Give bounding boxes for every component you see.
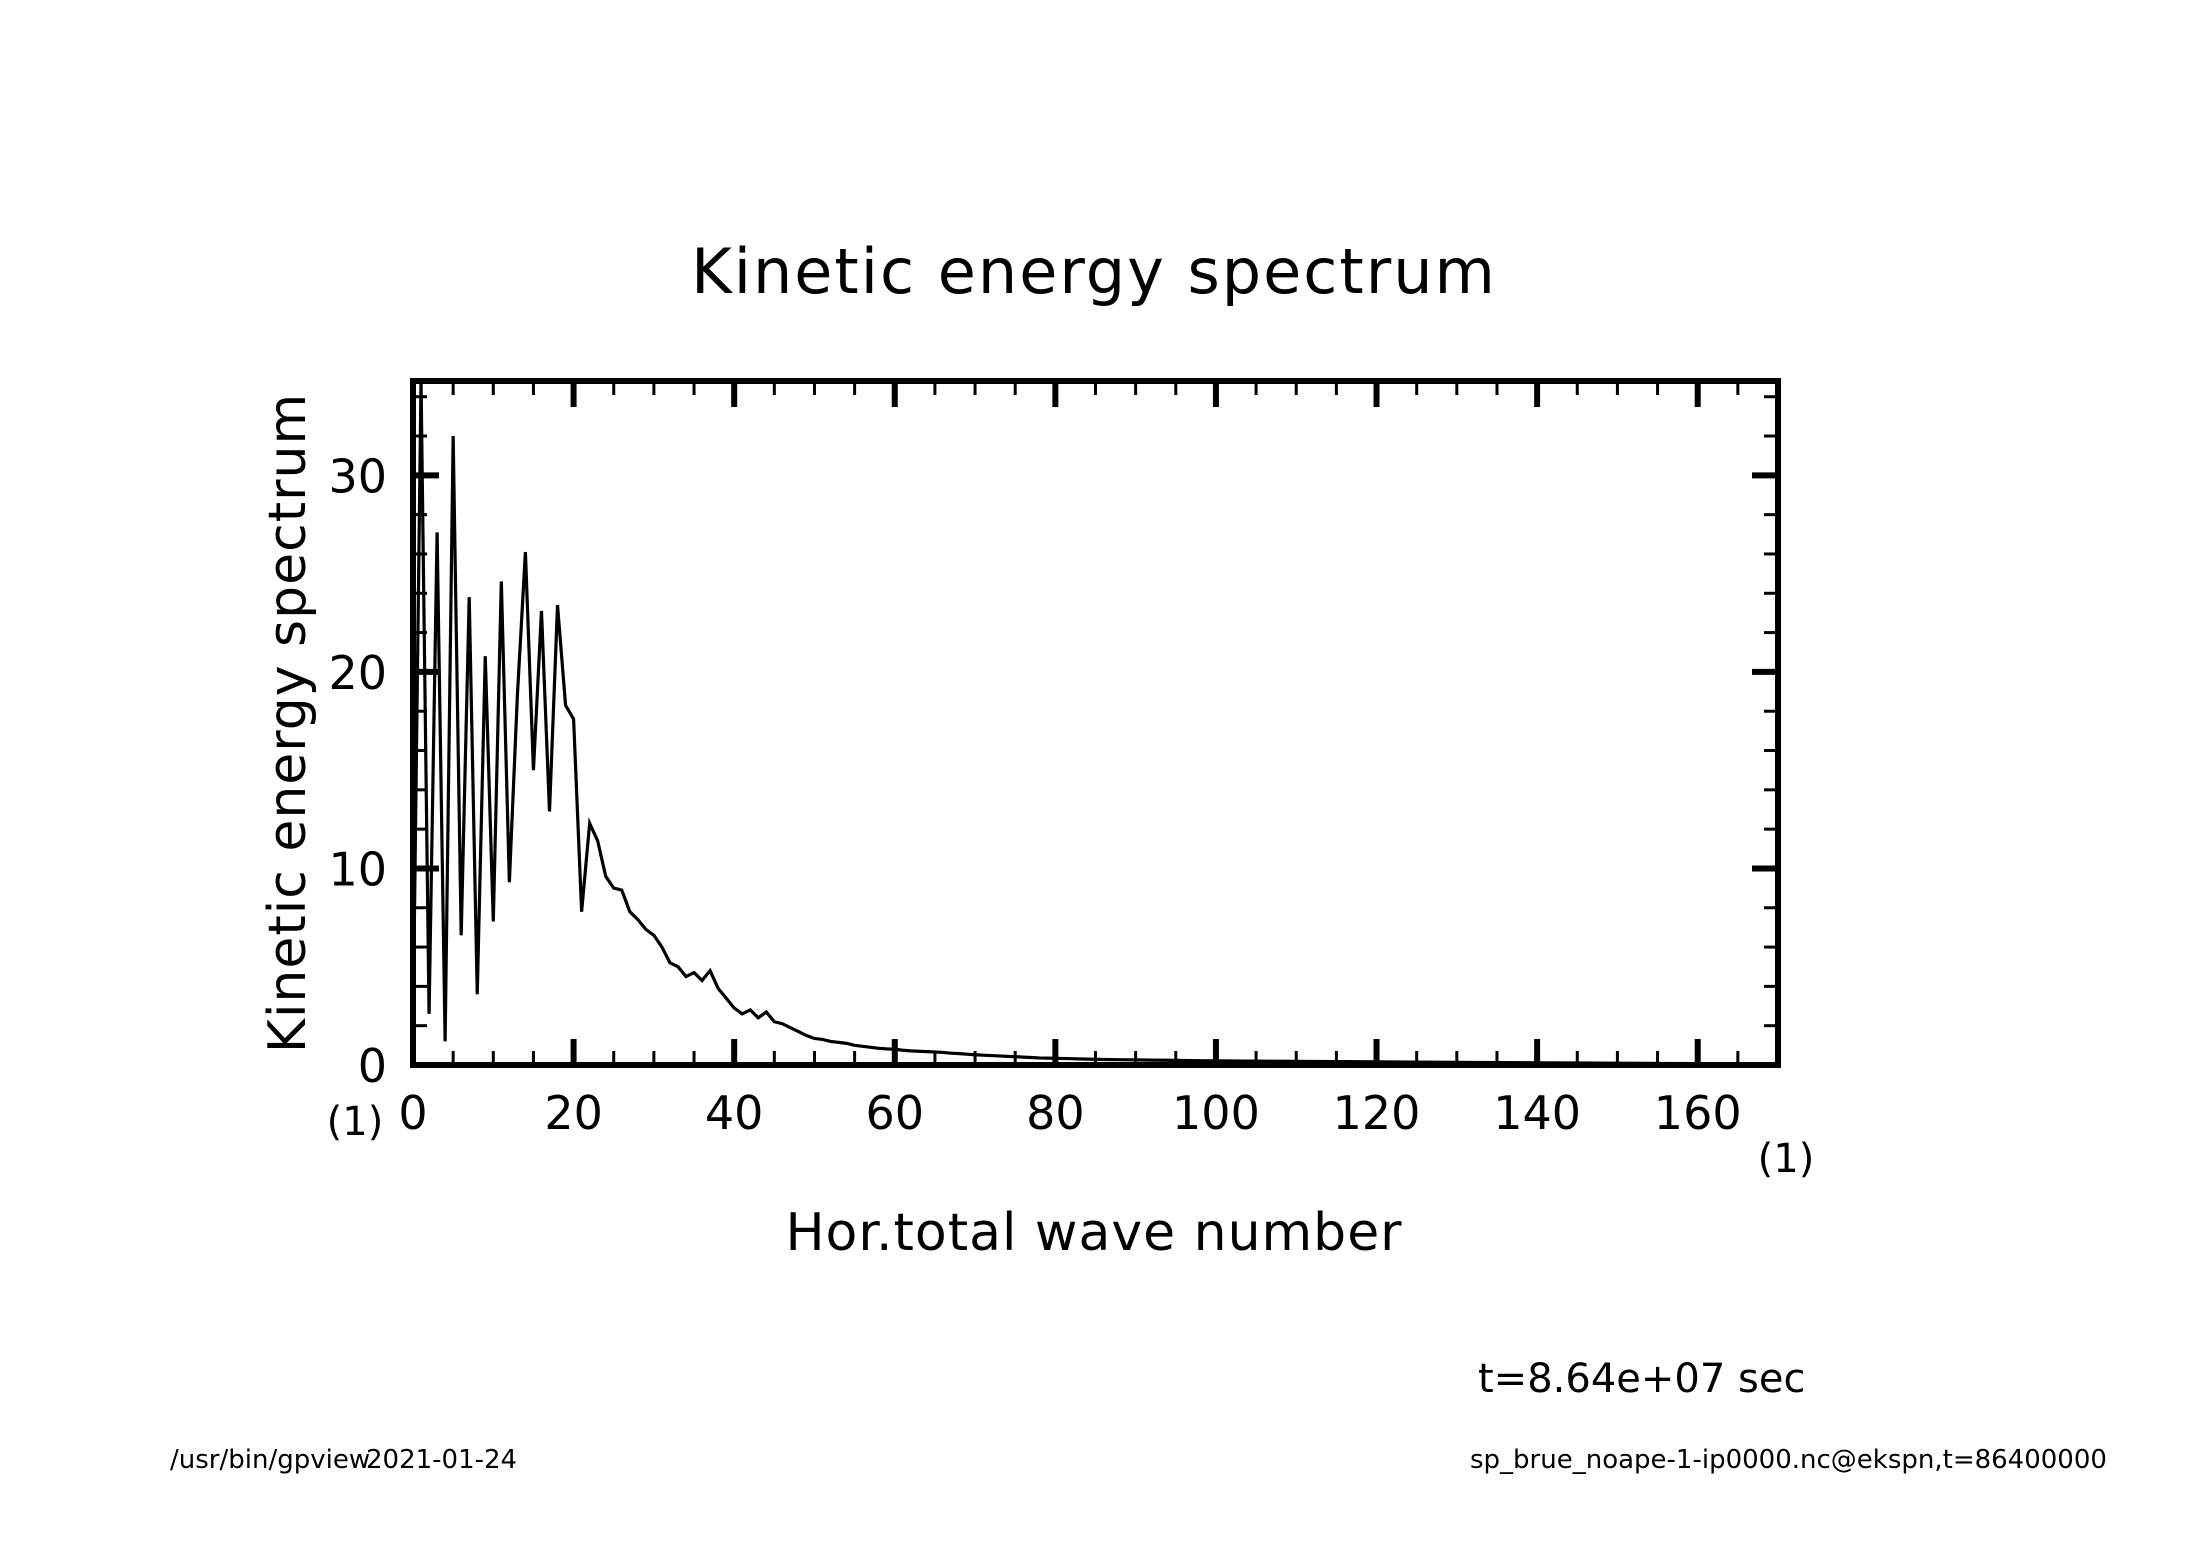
y-axis-ticks: [413, 397, 1778, 1065]
x-tick-label: 0: [398, 1086, 427, 1140]
time-annotation: t=8.64e+07 sec: [1478, 1356, 1805, 1402]
y-tick-label: 30: [328, 449, 387, 503]
kinetic-energy-spectrum-figure: Kinetic energy spectrum 0204060801001201…: [0, 0, 2188, 1546]
plot-frame: [413, 381, 1778, 1065]
x-tick-label: 160: [1654, 1086, 1742, 1140]
plot-box: [413, 381, 1778, 1065]
y-axis-unit-label: (1): [327, 1099, 384, 1145]
y-tick-label: 20: [328, 646, 387, 700]
x-axis-unit-label: (1): [1758, 1136, 1815, 1182]
footer-source-file: sp_brue_noape-1-ip0000.nc@ekspn,t=864000…: [1470, 1445, 2107, 1475]
y-axis-label: Kinetic energy spectrum: [258, 393, 318, 1053]
footer-date: 2021-01-24: [366, 1445, 517, 1475]
x-tick-label: 60: [865, 1086, 924, 1140]
y-tick-label: 0: [358, 1039, 387, 1093]
y-axis-tick-labels: 0102030: [328, 449, 387, 1093]
spectrum-data-line: [413, 381, 1778, 1064]
chart-title: Kinetic energy spectrum: [691, 235, 1497, 308]
x-axis-tick-labels: 020406080100120140160: [398, 1086, 1741, 1140]
x-axis-ticks: [413, 381, 1778, 1065]
x-tick-label: 40: [705, 1086, 764, 1140]
y-tick-label: 10: [328, 842, 387, 896]
footer-command: /usr/bin/gpview: [170, 1445, 370, 1475]
x-axis-label: Hor.total wave number: [785, 1203, 1402, 1263]
x-tick-label: 120: [1333, 1086, 1421, 1140]
x-tick-label: 100: [1172, 1086, 1260, 1140]
figure-canvas: Kinetic energy spectrum 0204060801001201…: [0, 0, 2188, 1546]
x-tick-label: 140: [1493, 1086, 1581, 1140]
x-tick-label: 20: [544, 1086, 603, 1140]
x-tick-label: 80: [1026, 1086, 1085, 1140]
